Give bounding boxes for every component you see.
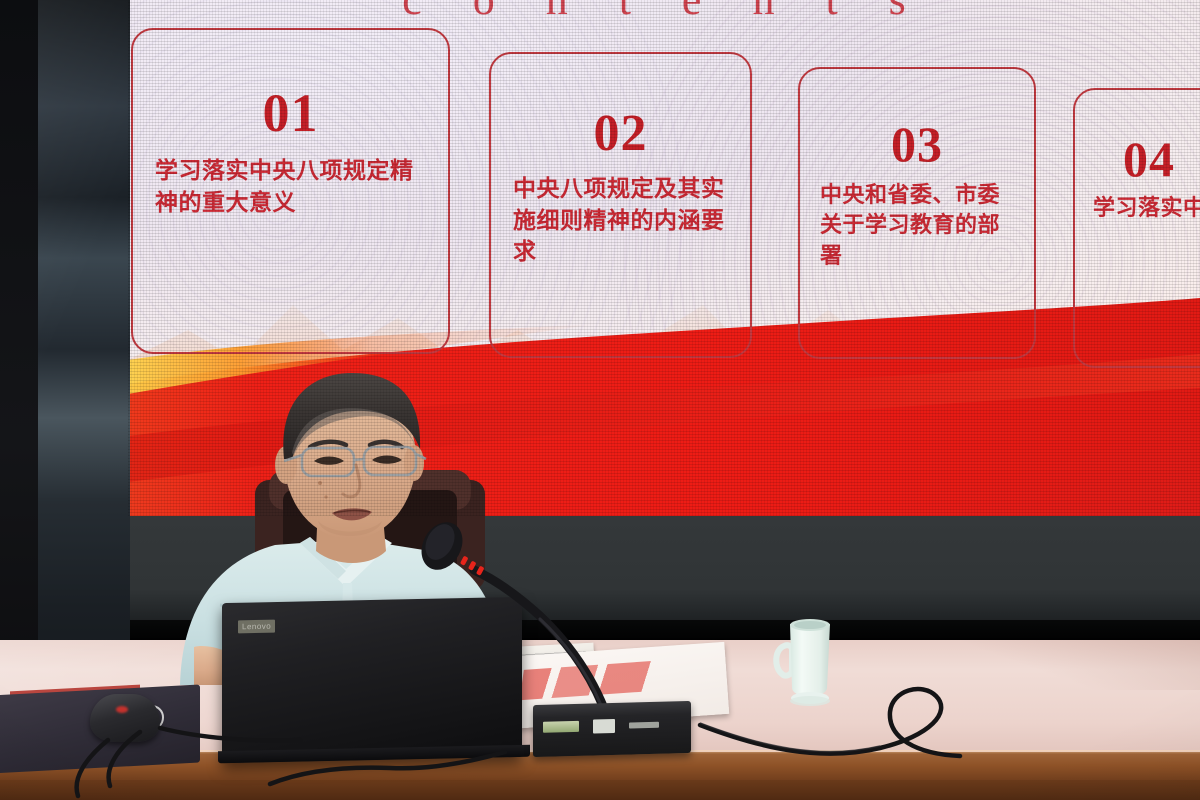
photo-scene: c o n t e n t s 01 学习落实中央八项规定精神的重大意义 02 … xyxy=(0,0,1200,800)
lenovo-logo: Lenovo xyxy=(238,620,275,634)
mouse-led-indicator xyxy=(116,706,128,713)
coffee-mug[interactable] xyxy=(772,616,844,708)
computer-mouse[interactable] xyxy=(90,694,160,742)
card-text-01: 学习落实中央八项规定精神的重大意义 xyxy=(149,156,432,219)
content-card-03: 03 中央和省委、市委关于学习教育的部署 xyxy=(798,67,1036,359)
slide-content-cards: 01 学习落实中央八项规定精神的重大意义 02 中央八项规定及其实施细则精神的内… xyxy=(0,0,1200,400)
content-card-01: 01 学习落实中央八项规定精神的重大意义 xyxy=(131,28,450,354)
console-label-green xyxy=(543,721,579,733)
console-label-gray xyxy=(629,722,659,729)
card-number-01: 01 xyxy=(149,86,432,140)
card-text-04: 学习落实中央八项规定精神，推动发展稳步 xyxy=(1091,194,1200,224)
console-label-white xyxy=(593,719,615,734)
content-card-02: 02 中央八项规定及其实施细则精神的内涵要求 xyxy=(489,52,752,358)
content-card-04: 04 学习落实中央八项规定精神，推动发展稳步 xyxy=(1073,88,1200,368)
microphone-base-unit[interactable] xyxy=(533,701,691,757)
card-number-02: 02 xyxy=(507,108,734,160)
card-number-04: 04 xyxy=(1091,134,1200,184)
table-front-panel xyxy=(0,780,1200,800)
card-text-02: 中央八项规定及其实施细则精神的内涵要求 xyxy=(507,174,734,269)
table-seam xyxy=(930,640,1200,690)
card-number-03: 03 xyxy=(816,119,1018,169)
card-text-03: 中央和省委、市委关于学习教育的部署 xyxy=(816,181,1018,272)
